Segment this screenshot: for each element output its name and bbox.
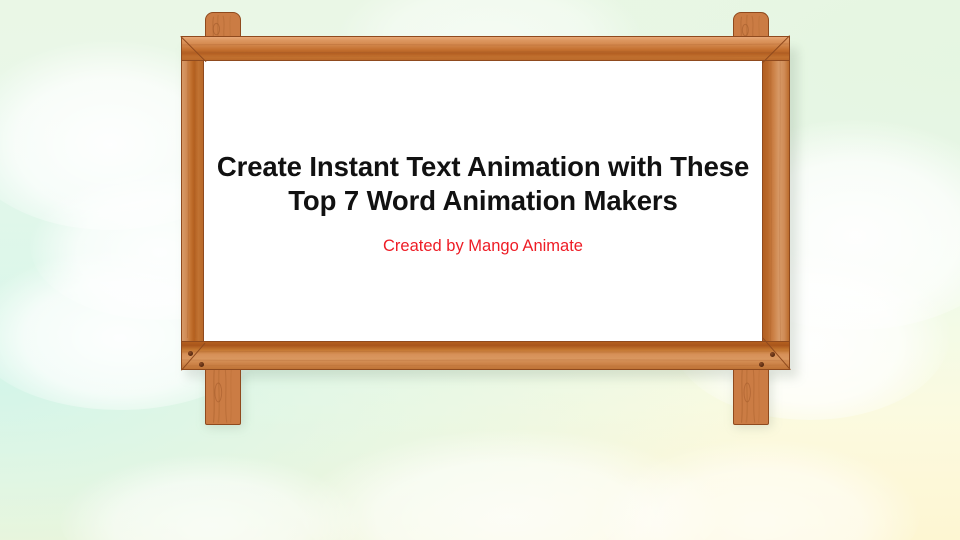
page-title: Create Instant Text Animation with These…	[204, 150, 762, 218]
nail-head	[199, 362, 204, 367]
rail-top	[181, 36, 790, 61]
nail-head	[759, 362, 764, 367]
wood-grain-icon	[763, 37, 789, 343]
slide-text-block: Create Instant Text Animation with These…	[204, 150, 762, 256]
leg-bottom-left	[205, 365, 241, 425]
nail-head	[770, 352, 775, 357]
page-subtitle: Created by Mango Animate	[204, 236, 762, 256]
wood-grain-icon	[734, 366, 768, 423]
title-line-1: Create Instant Text Animation with These	[217, 151, 749, 182]
stile-right	[762, 36, 790, 366]
title-line-2: Top 7 Word Animation Makers	[288, 185, 677, 216]
nail-head	[188, 351, 193, 356]
rail-bottom	[181, 341, 790, 370]
wooden-whiteboard-easel	[0, 0, 960, 540]
wood-grain-icon	[182, 342, 789, 371]
slide-canvas: Create Instant Text Animation with These…	[0, 0, 960, 540]
leg-bottom-right	[733, 365, 769, 425]
wood-grain-icon	[182, 37, 203, 338]
wood-grain-icon	[206, 366, 240, 423]
stile-left	[181, 36, 204, 366]
wood-grain-icon	[182, 37, 789, 62]
